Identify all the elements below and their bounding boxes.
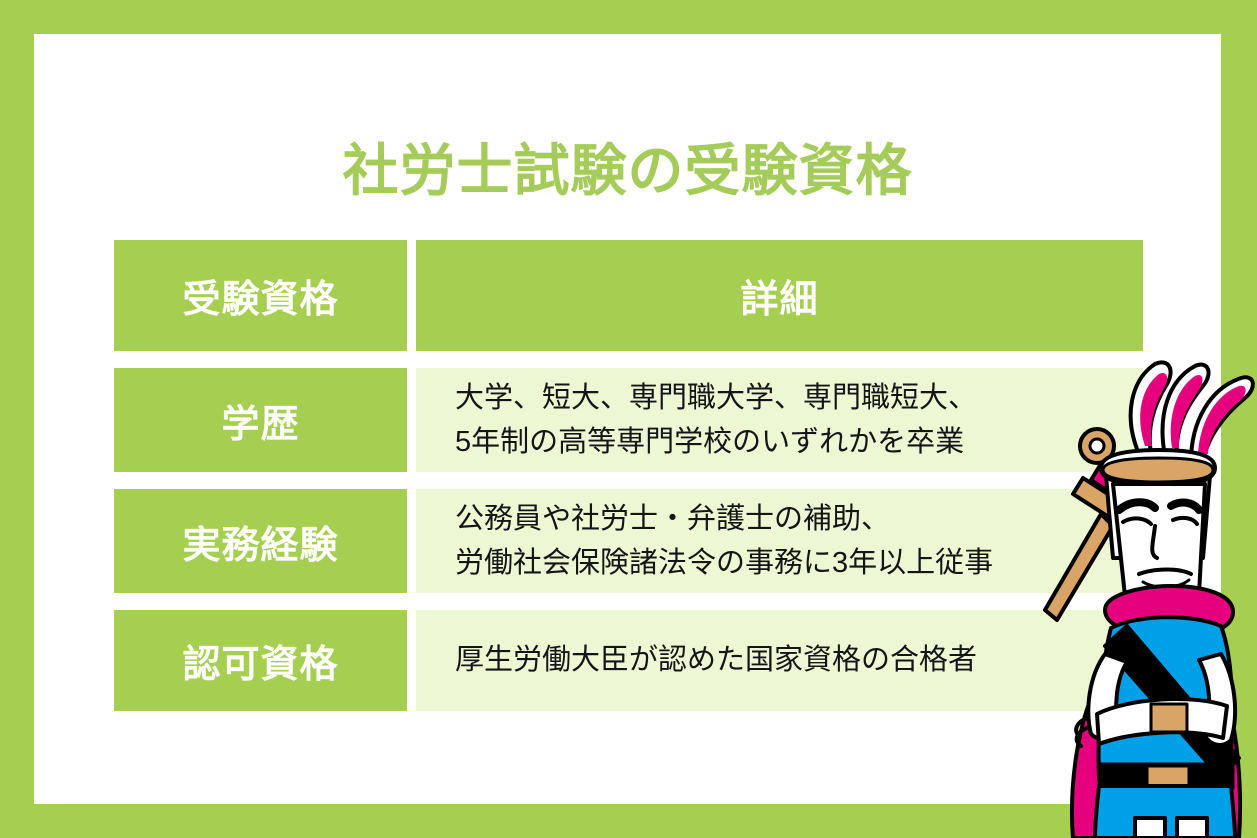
detail-line: 公務員や社労士・弁護士の補助、 — [455, 497, 993, 541]
table-row: 実務経験 公務員や社労士・弁護士の補助、 労働社会保険諸法令の事務に3年以上従事 — [114, 489, 1143, 593]
row-detail-education: 大学、短大、専門職大学、専門職短大、 5年制の高等専門学校のいずれかを卒業 — [416, 368, 1143, 472]
row-label-education: 学歴 — [114, 368, 407, 472]
row-label-approved-qualification: 認可資格 — [114, 610, 407, 711]
header-cell-qualification: 受験資格 — [114, 240, 407, 351]
infographic-root: 社労士試験の受験資格 受験資格 詳細 学歴 大学、短大、専門職大学、専門職短大、… — [0, 0, 1257, 838]
table-row: 認可資格 厚生労働大臣が認めた国家資格の合格者 — [114, 610, 1143, 711]
eligibility-table: 受験資格 詳細 学歴 大学、短大、専門職大学、専門職短大、 5年制の高等専門学校… — [114, 240, 1143, 711]
header-cell-details: 詳細 — [416, 240, 1143, 351]
table-row: 学歴 大学、短大、専門職大学、専門職短大、 5年制の高等専門学校のいずれかを卒業 — [114, 368, 1143, 472]
page-title: 社労士試験の受験資格 — [34, 140, 1221, 202]
row-label-work-experience: 実務経験 — [114, 489, 407, 593]
leg-left — [1135, 818, 1165, 838]
detail-line: 厚生労働大臣が認めた国家資格の合格者 — [455, 638, 977, 682]
leg-right — [1177, 818, 1207, 838]
row-detail-work-experience: 公務員や社労士・弁護士の補助、 労働社会保険諸法令の事務に3年以上従事 — [416, 489, 1143, 593]
row-detail-approved-qualification: 厚生労働大臣が認めた国家資格の合格者 — [416, 610, 1143, 711]
detail-line: 大学、短大、専門職大学、専門職短大、 — [455, 376, 977, 420]
detail-line: 5年制の高等専門学校のいずれかを卒業 — [455, 420, 977, 464]
detail-line: 労働社会保険諸法令の事務に3年以上従事 — [455, 541, 993, 585]
table-header-row: 受験資格 詳細 — [114, 240, 1143, 351]
white-panel: 社労士試験の受験資格 受験資格 詳細 学歴 大学、短大、専門職大学、専門職短大、… — [34, 34, 1221, 804]
